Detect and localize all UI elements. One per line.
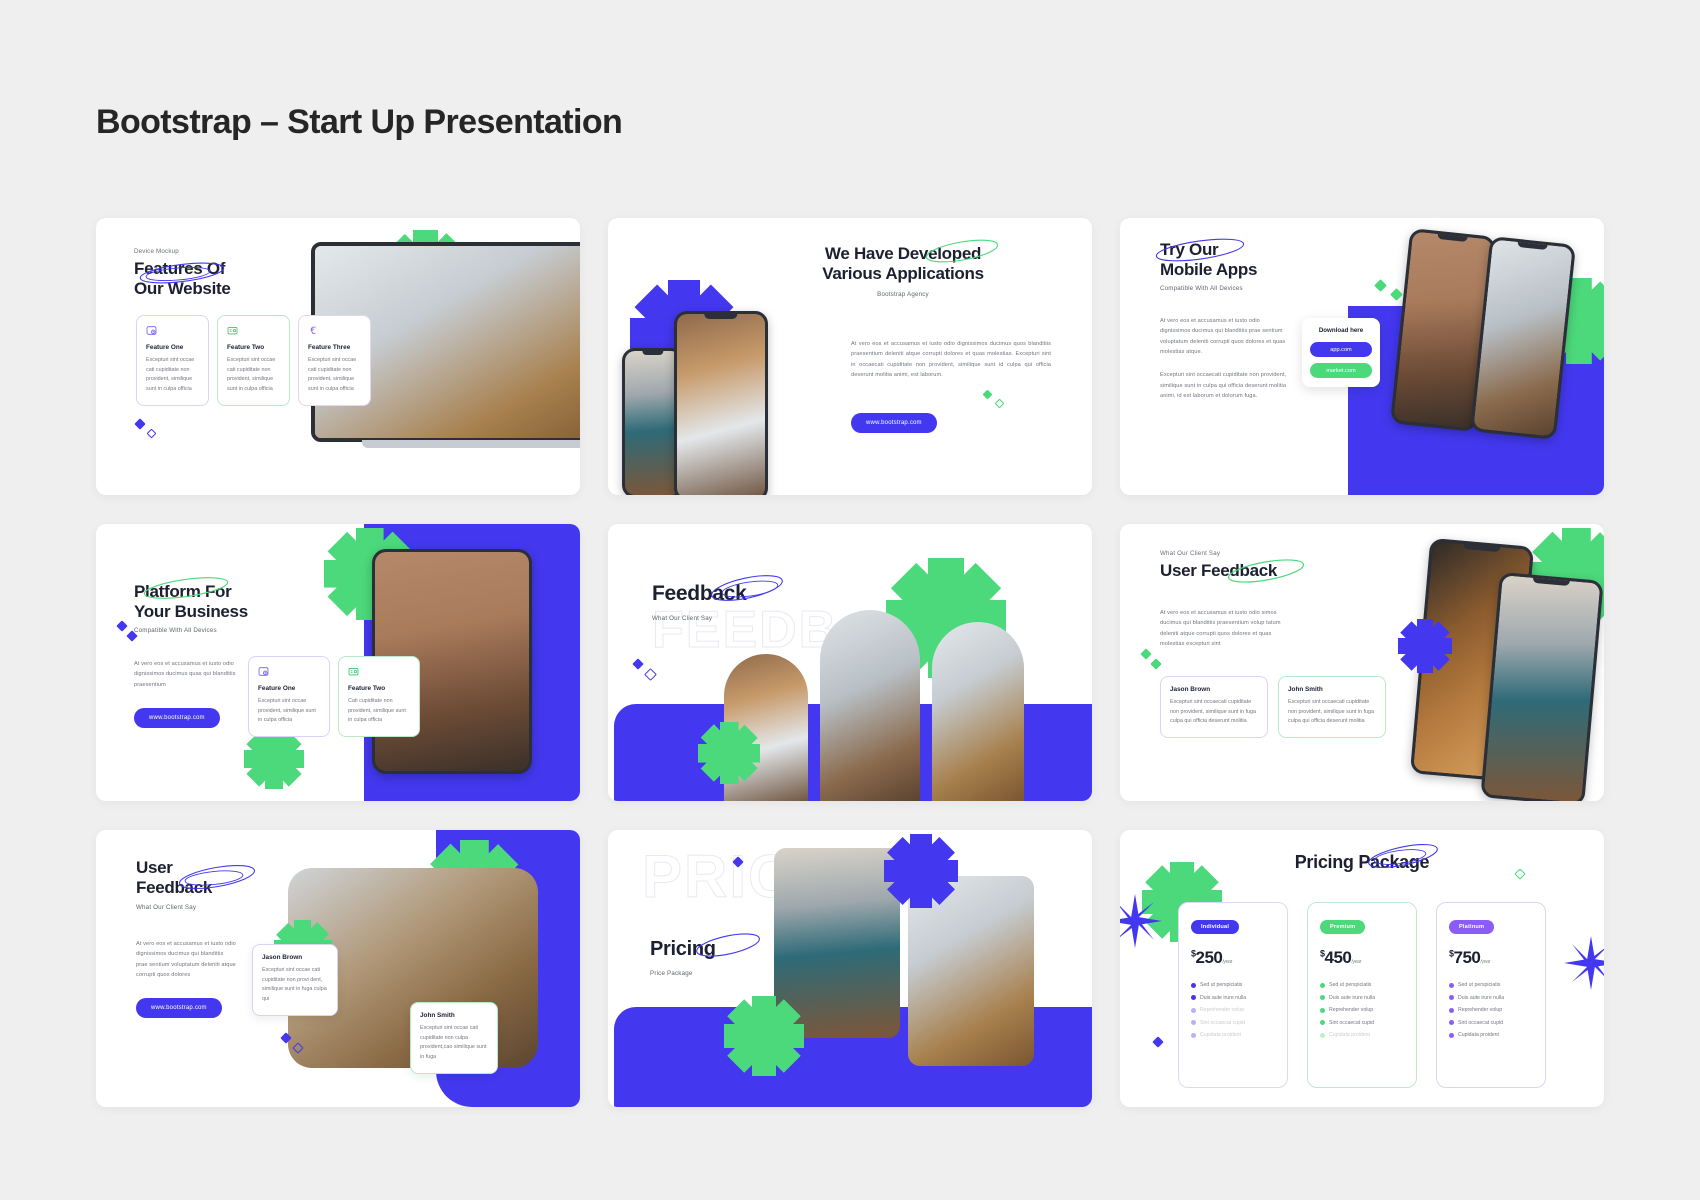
slide7-cta-button[interactable]: www.bootstrap.com — [136, 998, 222, 1018]
slide2-title-line2: Various Applications — [822, 264, 984, 284]
pricing-card-individual[interactable]: Individual $250/year Sed ut perspiciatis… — [1178, 902, 1288, 1088]
decor-star-blue — [884, 834, 958, 908]
testimonial-body-john: Excepturi sint occaecati cupiditate non … — [1288, 698, 1376, 727]
slide-pricing[interactable]: PRICING Pricing Price Package — [608, 830, 1092, 1107]
decor-diamond-outline — [644, 668, 657, 681]
slide7-subtitle: What Our Client Say — [136, 904, 326, 911]
pricing-features-premium: Sed ut perspiciatis Duis aute irure null… — [1320, 982, 1404, 1038]
slide4-body: At vero eos et accusamus et iusto odio d… — [134, 659, 236, 690]
feature-card-three[interactable]: Feature Three Excepturi sint occae cati … — [298, 315, 371, 406]
feedback-photo-2 — [820, 610, 920, 801]
check-icon — [1320, 983, 1325, 988]
slide-grid: Device Mockup Features Of Our Website Fe… — [96, 218, 1604, 1107]
pricing-period: /year — [1222, 959, 1231, 965]
check-icon — [1449, 1020, 1454, 1025]
check-icon — [1320, 995, 1325, 1000]
download-app-button[interactable]: app.com — [1310, 342, 1372, 357]
slide7-title-line1: User — [136, 858, 212, 878]
decor-diamond-blue — [134, 418, 145, 429]
testimonial-body-jason: Excepturi sint occaecati cupiditate non … — [1170, 698, 1258, 727]
slide4-cta-button[interactable]: www.bootstrap.com — [134, 708, 220, 728]
feature-card-one-body: Excepturi sint occae cati cupiditate non… — [146, 356, 199, 395]
pricing-card-premium[interactable]: Premium $450/year Sed ut perspiciatis Du… — [1307, 902, 1417, 1088]
brain-idea-icon — [308, 325, 319, 336]
testimonial-name-jason: Jason Brown — [1170, 686, 1258, 693]
slide7-body: At vero eos et accusamus et iusto odio d… — [136, 939, 236, 980]
feature-card-one-title: Feature One — [146, 344, 199, 351]
decor-star-green — [724, 996, 804, 1076]
testimonial-card-john[interactable]: John Smith Excepturi sint occaecati cupi… — [1278, 676, 1386, 738]
decor-diamond-green — [1374, 279, 1387, 292]
decor-burst-blue-right-icon — [1562, 934, 1604, 992]
feature-card-two-title: Feature Two — [227, 344, 280, 351]
slide-try-our-mobile-apps[interactable]: Try Our Mobile Apps Compatible With All … — [1120, 218, 1604, 495]
slide1-eyebrow: Device Mockup — [134, 248, 344, 255]
feature-card-one[interactable]: Feature One Excepturi sint occae provide… — [248, 656, 330, 737]
slide-feedback[interactable]: FEEDB Feedback What Our Client Say — [608, 524, 1092, 801]
slide5-title: Feedback — [652, 582, 746, 607]
feature-card-two[interactable]: Feature Two Cati cupiditate non providen… — [338, 656, 420, 737]
slide5-subtitle: What Our Client Say — [652, 615, 746, 622]
check-icon — [1191, 1020, 1196, 1025]
slide8-subtitle: Price Package — [650, 970, 716, 977]
check-icon — [1191, 995, 1196, 1000]
pricing-period: /year — [1480, 959, 1489, 965]
wallet-icon — [227, 325, 238, 336]
image-share-icon — [146, 325, 157, 336]
slide6-eyebrow: What Our Client Say — [1160, 550, 1380, 557]
feature-card-two-title: Feature Two — [348, 685, 410, 692]
decor-diamond-blue — [116, 620, 127, 631]
slide2-subtitle: Bootstrap Agency — [738, 291, 1068, 298]
decor-star-green-2 — [698, 722, 760, 784]
slide-user-feedback-laptop[interactable]: User Feedback What Our Client Say At ver… — [96, 830, 580, 1107]
pricing-badge-individual: Individual — [1191, 920, 1239, 934]
wallet-icon — [348, 666, 359, 677]
check-icon — [1449, 983, 1454, 988]
feature-card-two-body: Cati cupiditate non provident, similique… — [348, 697, 410, 726]
slide6-title: User Feedback — [1160, 561, 1277, 581]
download-card-heading: Download here — [1310, 327, 1372, 334]
pricing-features-individual: Sed ut perspiciatis Duis aute irure null… — [1191, 982, 1275, 1038]
slide4-title-line2: Your Business — [134, 602, 334, 622]
pricing-amount-individual: $250/year — [1191, 948, 1275, 968]
slide8-title: Pricing — [650, 938, 716, 962]
testimonial-body-jason: Excepturi sint occae cati cupiditate non… — [262, 966, 328, 1005]
decor-diamond-green-2 — [1150, 658, 1161, 669]
decor-diamond-green — [983, 390, 993, 400]
slide-user-feedback-phones[interactable]: What Our Client Say User Feedback At ver… — [1120, 524, 1604, 801]
feature-card-one-title: Feature One — [258, 685, 320, 692]
decor-star-blue — [1398, 619, 1452, 673]
testimonial-card-jason[interactable]: Jason Brown Excepturi sint occaecati cup… — [1160, 676, 1268, 738]
slide3-body-1: At vero eos et accusamus et iusto odio d… — [1160, 316, 1290, 357]
slide2-cta-button[interactable]: www.bootstrap.com — [851, 413, 937, 433]
slide1-title-line1: Features Of — [134, 259, 344, 279]
testimonial-name-john: John Smith — [1288, 686, 1376, 693]
check-icon — [1191, 1033, 1196, 1038]
pricing-badge-premium: Premium — [1320, 920, 1365, 934]
feature-card-three-body: Excepturi sint occae cati cupiditate non… — [308, 356, 361, 395]
slide4-subtitle: Compatible With All Devices — [134, 627, 334, 634]
slide3-title-line2: Mobile Apps — [1160, 260, 1375, 280]
slide2-title-line1: We Have Developed — [822, 244, 984, 264]
slide3-subtitle: Compatible With All Devices — [1160, 285, 1375, 292]
slide2-body: At vero eos et accusamus et iusto odio d… — [851, 339, 1051, 380]
slide3-title-line1: Try Our — [1160, 240, 1375, 260]
check-icon — [1449, 1008, 1454, 1013]
check-icon — [1320, 1008, 1325, 1013]
feedback-photo-3 — [932, 622, 1024, 801]
download-market-button[interactable]: market.com — [1310, 363, 1372, 378]
check-icon — [1191, 1008, 1196, 1013]
pricing-card-platinum[interactable]: Platinum $750/year Sed ut perspiciatis D… — [1436, 902, 1546, 1088]
slide9-title: Pricing Package — [1295, 852, 1430, 873]
image-share-icon — [258, 666, 269, 677]
pricing-amount-platinum: $750/year — [1449, 948, 1533, 968]
phone-mockup-right — [1480, 572, 1603, 801]
download-card[interactable]: Download here app.com market.com — [1302, 318, 1380, 387]
decor-diamond-blue — [632, 658, 643, 669]
decor-diamond-green — [1140, 648, 1151, 659]
check-icon — [1320, 1020, 1325, 1025]
testimonial-card-john[interactable]: John Smith Excepturi sint occae cati cup… — [410, 1002, 498, 1074]
feature-card-two-body: Excepturi sint occae cati cupiditate non… — [227, 356, 280, 395]
check-icon — [1320, 1033, 1325, 1038]
feature-card-two[interactable]: Feature Two Excepturi sint occae cati cu… — [217, 315, 290, 406]
testimonial-name-john: John Smith — [420, 1012, 488, 1019]
testimonial-card-jason[interactable]: Jason Brown Excepturi sint occae cati cu… — [252, 944, 338, 1016]
phone-mockup-large — [674, 311, 768, 495]
pricing-features-platinum: Sed ut perspiciatis Duis aute irure null… — [1449, 982, 1533, 1038]
slide-features-of-our-website[interactable]: Device Mockup Features Of Our Website Fe… — [96, 218, 580, 495]
pricing-period: /year — [1351, 959, 1360, 965]
slide-pricing-package[interactable]: Pricing Package Individual $250/year Sed… — [1120, 830, 1604, 1107]
slide1-title-line2: Our Website — [134, 279, 344, 299]
feature-card-one-body: Excepturi sint occae provident, similiqu… — [258, 697, 320, 726]
page-title: Bootstrap – Start Up Presentation — [96, 103, 622, 142]
slide7-title-line2: Feedback — [136, 878, 212, 898]
slide3-body-2: Excepturi sint occaecati cupiditate non … — [1160, 370, 1290, 401]
decor-star-green-2 — [244, 729, 304, 789]
pricing-amount-premium: $450/year — [1320, 948, 1404, 968]
check-icon — [1191, 983, 1196, 988]
testimonial-name-jason: Jason Brown — [262, 954, 328, 961]
decor-diamond-outline — [147, 429, 157, 439]
decor-diamond-green-2 — [1390, 288, 1403, 301]
check-icon — [1449, 1033, 1454, 1038]
laptop-base — [362, 440, 580, 448]
decor-burst-blue-left-icon — [1120, 892, 1164, 950]
slide6-body: At vero eos et accusamus et iusto odio s… — [1160, 608, 1294, 649]
feature-card-three-title: Feature Three — [308, 344, 361, 351]
decor-diamond-green-outline — [995, 399, 1005, 409]
testimonial-body-john: Excepturi sint occae cati cupiditate non… — [420, 1024, 488, 1063]
check-icon — [1449, 995, 1454, 1000]
slide-we-have-developed-various-applications[interactable]: We Have Developed Various Applications B… — [608, 218, 1092, 495]
slide-platform-for-your-business[interactable]: Platform For Your Business Compatible Wi… — [96, 524, 580, 801]
feature-card-one[interactable]: Feature One Excepturi sint occae cati cu… — [136, 315, 209, 406]
pricing-badge-platinum: Platinum — [1449, 920, 1494, 934]
slide4-title-line1: Platform For — [134, 582, 334, 602]
decor-diamond-blue — [1152, 1036, 1163, 1047]
